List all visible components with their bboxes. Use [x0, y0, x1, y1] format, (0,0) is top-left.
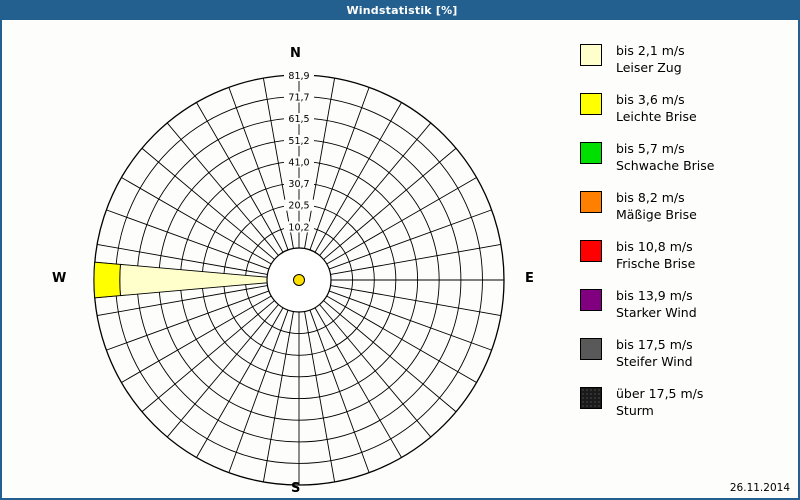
legend-speed-range: bis 2,1 m/s	[616, 42, 685, 59]
legend-speed-range: über 17,5 m/s	[616, 385, 703, 402]
legend-item[interactable]: bis 13,9 m/sStarker Wind	[580, 287, 790, 327]
legend-speed-range: bis 10,8 m/s	[616, 238, 695, 255]
legend-color-swatch	[580, 289, 602, 311]
legend-color-swatch	[580, 191, 602, 213]
radial-axis-tick-label: 71,7	[288, 93, 309, 104]
legend-label: bis 2,1 m/sLeiser Zug	[616, 42, 685, 76]
wind-rose-svg: 10,220,530,741,051,261,571,781,9	[2, 20, 562, 498]
radial-axis-tick-label: 10,2	[288, 222, 309, 233]
chart-canvas: 10,220,530,741,051,261,571,781,9 N E S W…	[2, 20, 798, 498]
wind-rose-plot: 10,220,530,741,051,261,571,781,9	[2, 20, 562, 498]
legend-item[interactable]: bis 10,8 m/sFrische Brise	[580, 238, 790, 278]
wind-rose-wedge[interactable]	[120, 264, 267, 295]
legend: bis 2,1 m/sLeiser Zugbis 3,6 m/sLeichte …	[580, 42, 790, 434]
calm-center-dot[interactable]	[294, 275, 305, 286]
legend-label: bis 8,2 m/sMäßige Brise	[616, 189, 697, 223]
page-title: Windstatistik [%]	[346, 4, 457, 17]
radial-axis-tick-label: 41,0	[288, 157, 309, 168]
wind-rose-wedges	[94, 262, 287, 298]
legend-beaufort-name: Schwache Brise	[616, 157, 714, 174]
wind-rose-wedge[interactable]	[94, 262, 120, 298]
legend-beaufort-name: Frische Brise	[616, 255, 695, 272]
compass-label-north: N	[290, 46, 301, 61]
legend-color-swatch	[580, 240, 602, 262]
legend-item[interactable]: über 17,5 m/sSturm	[580, 385, 790, 425]
legend-label: bis 5,7 m/sSchwache Brise	[616, 140, 714, 174]
compass-label-south: S	[291, 481, 300, 496]
legend-beaufort-name: Starker Wind	[616, 304, 697, 321]
legend-beaufort-name: Leiser Zug	[616, 59, 685, 76]
legend-speed-range: bis 13,9 m/s	[616, 287, 697, 304]
windrose-window: Windstatistik [%] 10,220,530,741,051,261…	[0, 0, 800, 500]
legend-item[interactable]: bis 17,5 m/sSteifer Wind	[580, 336, 790, 376]
legend-speed-range: bis 3,6 m/s	[616, 91, 697, 108]
legend-color-swatch	[580, 338, 602, 360]
legend-beaufort-name: Mäßige Brise	[616, 206, 697, 223]
legend-color-swatch	[580, 387, 602, 409]
radial-axis-tick-label: 81,9	[288, 71, 309, 82]
legend-speed-range: bis 5,7 m/s	[616, 140, 714, 157]
compass-label-east: E	[525, 271, 534, 286]
legend-speed-range: bis 17,5 m/s	[616, 336, 693, 353]
radial-axis-tick-label: 61,5	[288, 114, 309, 125]
legend-item[interactable]: bis 5,7 m/sSchwache Brise	[580, 140, 790, 180]
date-stamp: 26.11.2014	[730, 482, 790, 494]
calm-center-hub	[267, 248, 331, 312]
radial-axis-tick-label: 20,5	[288, 201, 309, 212]
legend-label: bis 10,8 m/sFrische Brise	[616, 238, 695, 272]
legend-label: bis 13,9 m/sStarker Wind	[616, 287, 697, 321]
legend-beaufort-name: Sturm	[616, 402, 703, 419]
legend-label: bis 17,5 m/sSteifer Wind	[616, 336, 693, 370]
legend-beaufort-name: Steifer Wind	[616, 353, 693, 370]
radial-axis-tick-label: 51,2	[288, 136, 309, 147]
legend-item[interactable]: bis 2,1 m/sLeiser Zug	[580, 42, 790, 82]
window-title-bar: Windstatistik [%]	[2, 0, 800, 20]
legend-item[interactable]: bis 3,6 m/sLeichte Brise	[580, 91, 790, 131]
compass-label-west: W	[52, 271, 66, 286]
legend-speed-range: bis 8,2 m/s	[616, 189, 697, 206]
legend-color-swatch	[580, 142, 602, 164]
radial-axis-tick-label: 30,7	[288, 179, 309, 190]
legend-color-swatch	[580, 44, 602, 66]
legend-item[interactable]: bis 8,2 m/sMäßige Brise	[580, 189, 790, 229]
legend-label: bis 3,6 m/sLeichte Brise	[616, 91, 697, 125]
legend-beaufort-name: Leichte Brise	[616, 108, 697, 125]
legend-label: über 17,5 m/sSturm	[616, 385, 703, 419]
legend-color-swatch	[580, 93, 602, 115]
